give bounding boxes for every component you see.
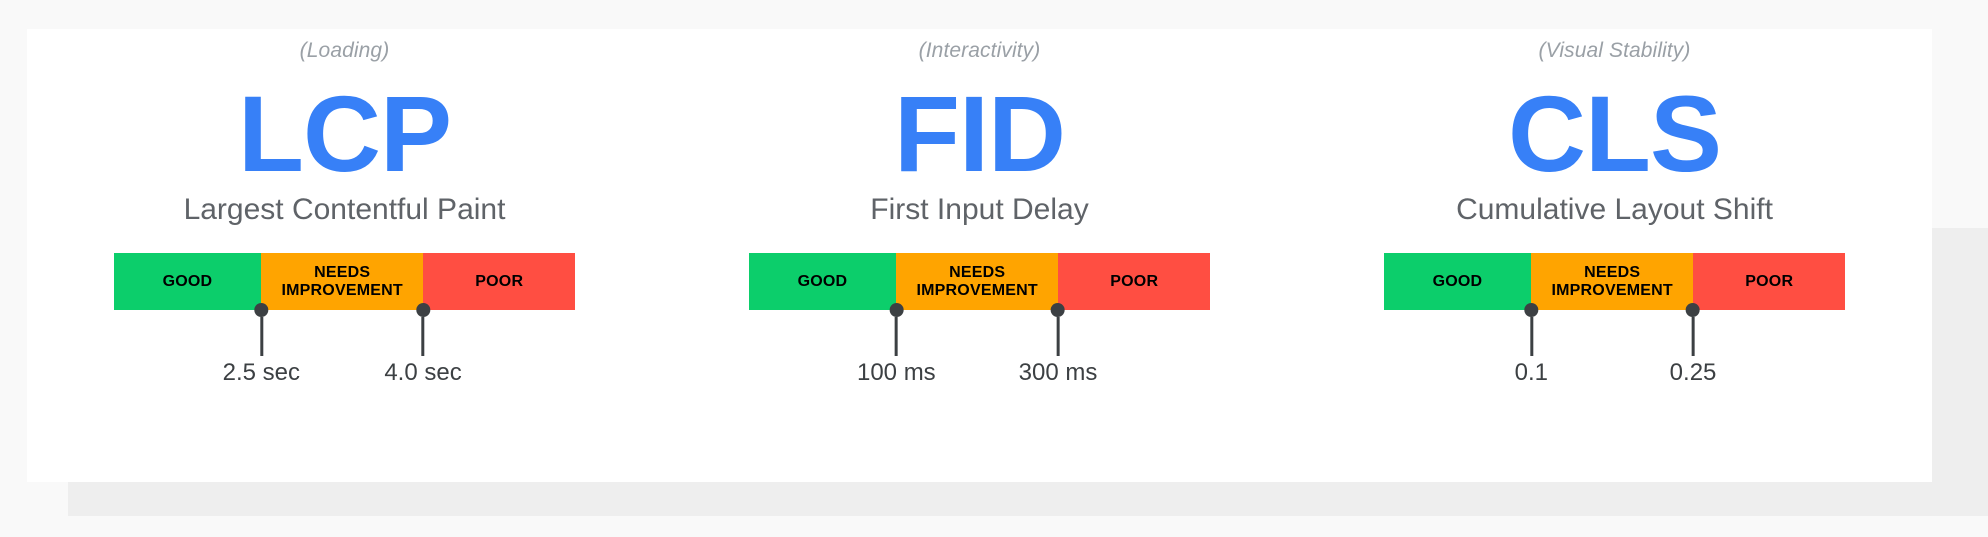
threshold-dot-icon	[1051, 303, 1065, 317]
threshold-marker: 0.25	[1670, 310, 1717, 385]
threshold-bar-track: GOOD NEEDS IMPROVEMENT POOR	[1384, 253, 1846, 310]
threshold-stem-icon	[1057, 317, 1060, 356]
panel-acronym-fid: FID	[894, 79, 1065, 189]
panel-acronym-cls: CLS	[1508, 79, 1721, 189]
threshold-value-label: 0.1	[1515, 361, 1548, 385]
threshold-bar-cls: GOOD NEEDS IMPROVEMENT POOR 0.1 0.25	[1384, 253, 1846, 310]
threshold-segment-poor: POOR	[423, 253, 575, 310]
threshold-stem-icon	[1530, 317, 1533, 356]
threshold-marker: 4.0 sec	[384, 310, 461, 385]
threshold-bar-fid: GOOD NEEDS IMPROVEMENT POOR 100 ms 300 m…	[749, 253, 1211, 310]
panel-fullname-lcp: Largest Contentful Paint	[184, 195, 506, 225]
threshold-dot-icon	[1686, 303, 1700, 317]
threshold-stem-icon	[895, 317, 898, 356]
threshold-stem-icon	[260, 317, 263, 356]
threshold-value-label: 2.5 sec	[223, 361, 300, 385]
threshold-value-label: 100 ms	[857, 361, 936, 385]
threshold-dot-icon	[1524, 303, 1538, 317]
threshold-dot-icon	[889, 303, 903, 317]
panel-category-label: (Interactivity)	[919, 40, 1041, 61]
threshold-marker: 300 ms	[1019, 310, 1098, 385]
threshold-value-label: 300 ms	[1019, 361, 1098, 385]
threshold-segment-needs-improvement: NEEDS IMPROVEMENT	[261, 253, 423, 310]
threshold-segment-needs-improvement: NEEDS IMPROVEMENT	[1531, 253, 1693, 310]
threshold-stem-icon	[1692, 317, 1695, 356]
core-web-vitals-card: (Loading) LCP Largest Contentful Paint G…	[27, 29, 1932, 482]
threshold-bar-lcp: GOOD NEEDS IMPROVEMENT POOR 2.5 sec 4.0 …	[114, 253, 576, 310]
threshold-marker: 100 ms	[857, 310, 936, 385]
threshold-bar-track: GOOD NEEDS IMPROVEMENT POOR	[114, 253, 576, 310]
threshold-markers: 2.5 sec 4.0 sec	[114, 310, 576, 400]
threshold-segment-needs-improvement: NEEDS IMPROVEMENT	[896, 253, 1058, 310]
threshold-marker: 2.5 sec	[223, 310, 300, 385]
metric-panel-lcp: (Loading) LCP Largest Contentful Paint G…	[27, 29, 662, 482]
threshold-dot-icon	[416, 303, 430, 317]
threshold-segment-poor: POOR	[1058, 253, 1210, 310]
metric-panel-cls: (Visual Stability) CLS Cumulative Layout…	[1297, 29, 1932, 482]
threshold-dot-icon	[254, 303, 268, 317]
threshold-segment-poor: POOR	[1693, 253, 1845, 310]
panel-fullname-cls: Cumulative Layout Shift	[1456, 195, 1773, 225]
panel-category-label: (Loading)	[300, 40, 390, 61]
threshold-markers: 0.1 0.25	[1384, 310, 1846, 400]
threshold-markers: 100 ms 300 ms	[749, 310, 1211, 400]
threshold-bar-track: GOOD NEEDS IMPROVEMENT POOR	[749, 253, 1211, 310]
threshold-stem-icon	[422, 317, 425, 356]
panel-fullname-fid: First Input Delay	[870, 195, 1088, 225]
threshold-segment-good: GOOD	[114, 253, 262, 310]
threshold-value-label: 4.0 sec	[384, 361, 461, 385]
threshold-segment-good: GOOD	[1384, 253, 1532, 310]
threshold-marker: 0.1	[1515, 310, 1548, 385]
metric-panel-fid: (Interactivity) FID First Input Delay GO…	[662, 29, 1297, 482]
panel-acronym-lcp: LCP	[238, 79, 451, 189]
threshold-segment-good: GOOD	[749, 253, 897, 310]
panel-category-label: (Visual Stability)	[1539, 40, 1691, 61]
threshold-value-label: 0.25	[1670, 361, 1717, 385]
